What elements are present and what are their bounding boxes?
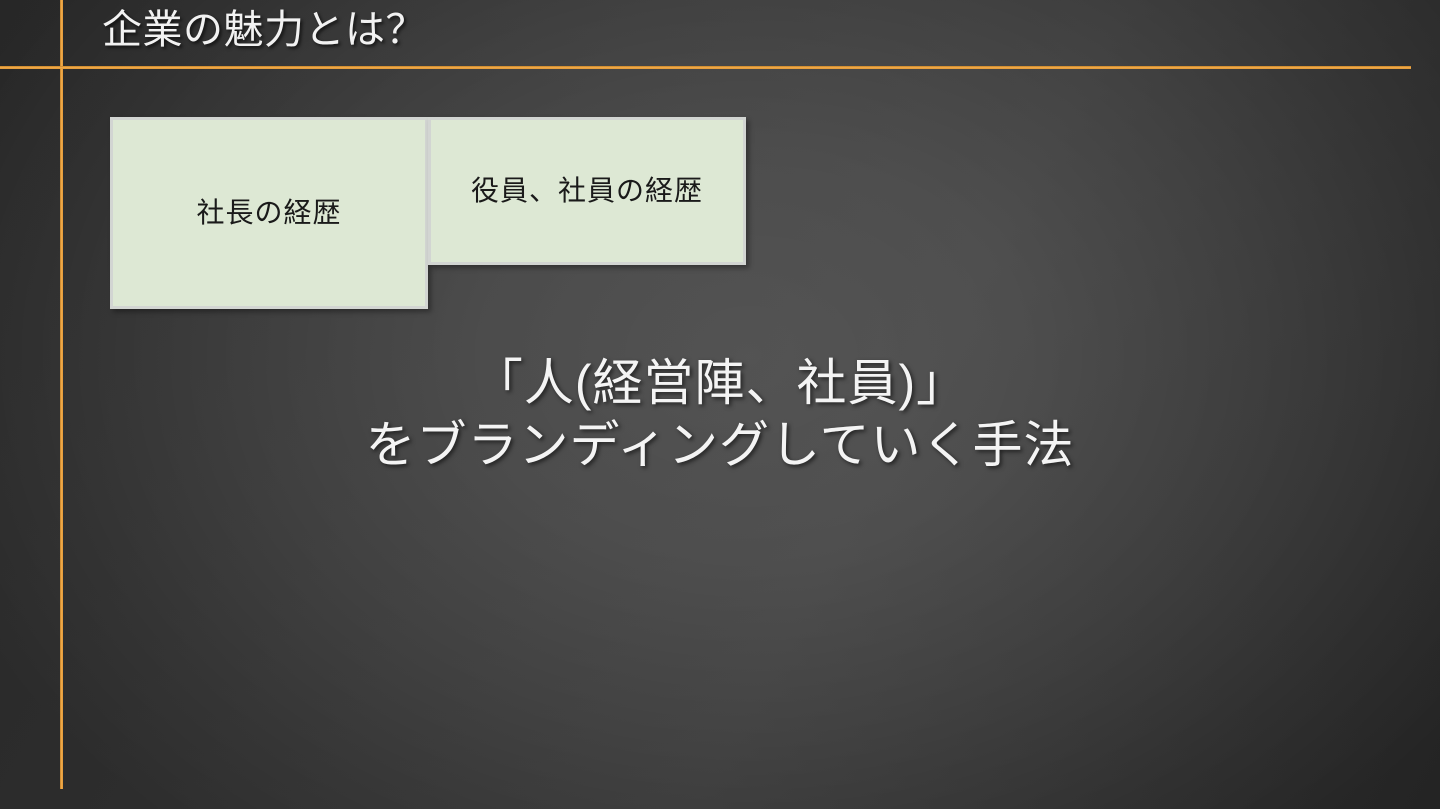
content-box-officers-employees-career: 役員、社員の経歴	[428, 117, 746, 265]
presentation-slide: 企業の魅力とは？ 社長の経歴 役員、社員の経歴 「人(経営陣、社員)」 をブラン…	[0, 0, 1440, 809]
content-box-label: 役員、社員の経歴	[471, 173, 703, 209]
slide-title: 企業の魅力とは？	[102, 6, 426, 54]
content-box-president-career: 社長の経歴	[110, 117, 428, 309]
statement-line-2: をブランディングしていく手法	[0, 414, 1440, 476]
accent-rule-horizontal	[0, 66, 1411, 69]
content-box-label: 社長の経歴	[196, 195, 341, 231]
statement-block: 「人(経営陣、社員)」 をブランディングしていく手法	[0, 352, 1440, 476]
statement-line-1: 「人(経営陣、社員)」	[0, 352, 1440, 414]
